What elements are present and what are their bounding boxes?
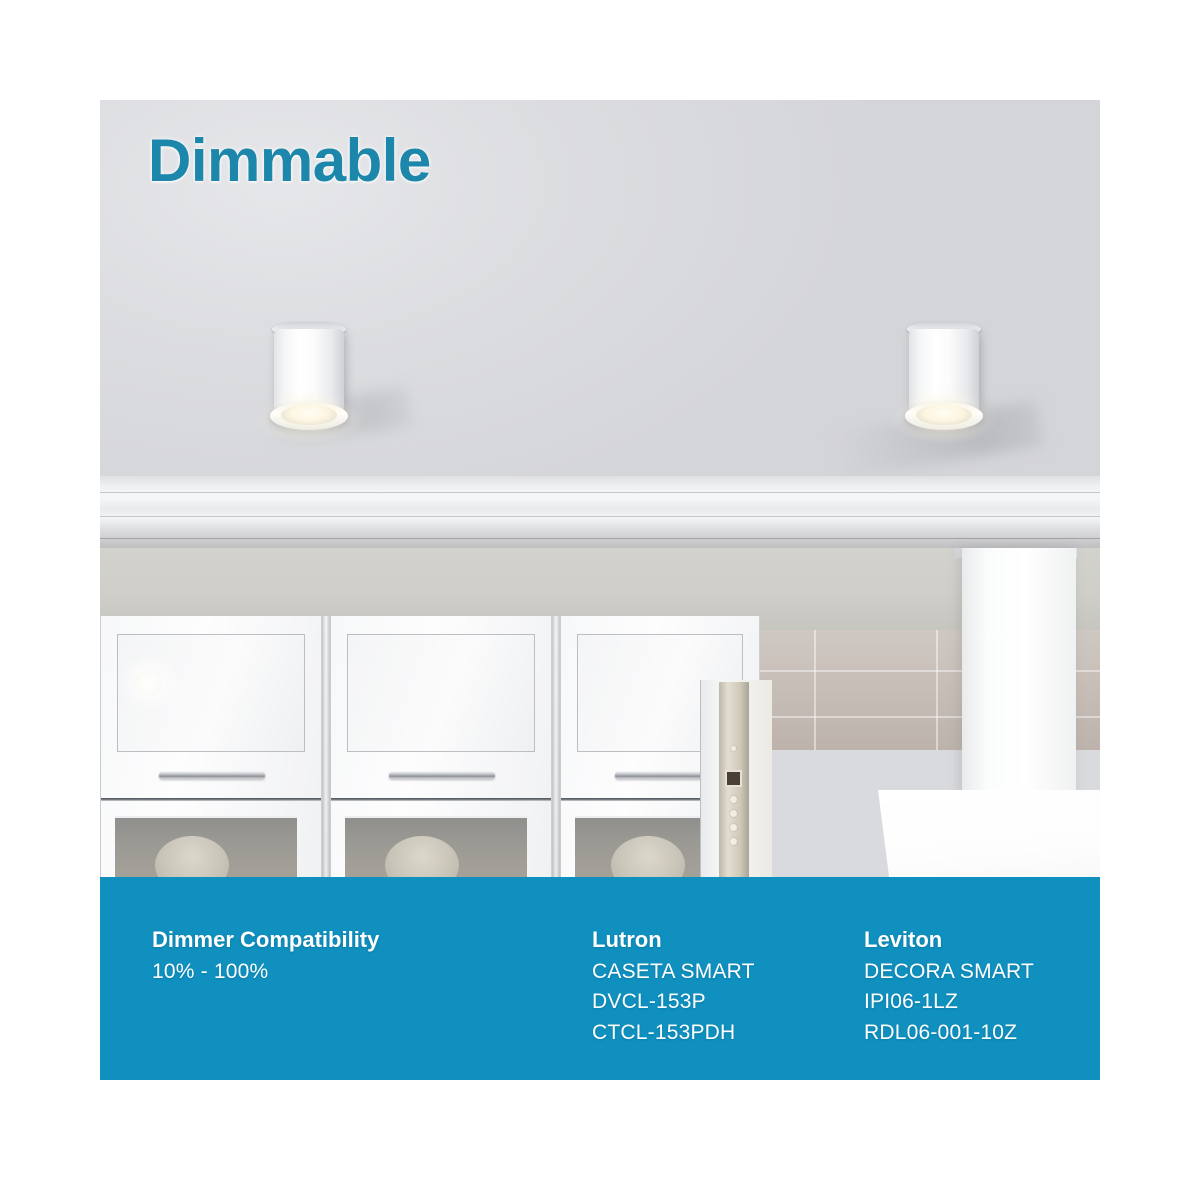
cabinet-glass-pane: [345, 816, 527, 880]
compatibility-heading: Dimmer Compatibility: [152, 925, 592, 955]
leviton-model: RDL06-001-10Z: [864, 1018, 1104, 1048]
cabinet-door: [100, 616, 322, 880]
banner-columns: Dimmer Compatibility 10% - 100% Lutron C…: [152, 925, 1104, 1048]
cabinet-panel: [347, 634, 535, 752]
appliance-button-icon: [730, 838, 737, 845]
cabinet-door: [330, 616, 552, 880]
cabinet-handle: [159, 772, 265, 779]
light-reflection: [135, 670, 163, 696]
downlight-fixture-right: [905, 322, 985, 437]
lutron-column: Lutron CASETA SMART DVCL-153P CTCL-153PD…: [592, 925, 864, 1048]
lutron-model: CTCL-153PDH: [592, 1018, 864, 1048]
page-title: Dimmable: [148, 131, 431, 191]
downlight-fixture-left: [270, 322, 350, 437]
appliance-control-strip: [719, 682, 749, 880]
tile-grout-line: [814, 630, 816, 750]
leviton-column: Leviton DECORA SMART IPI06-1LZ RDL06-001…: [864, 925, 1104, 1048]
leviton-model: IPI06-1LZ: [864, 987, 1104, 1017]
compatibility-range: 10% - 100%: [152, 957, 592, 987]
cabinet-glass-pane: [115, 816, 297, 880]
appliance-button-icon: [730, 824, 737, 831]
appliance-panel: [700, 680, 772, 880]
crown-molding: [100, 476, 1100, 548]
fixture-lens: [281, 405, 337, 425]
range-hood-chimney: [962, 548, 1076, 800]
molding-reveal: [100, 538, 1100, 539]
cabinet-rail: [331, 798, 551, 801]
lutron-heading: Lutron: [592, 925, 864, 955]
cabinet-seam: [322, 616, 330, 880]
molding-reveal: [100, 492, 1100, 493]
leviton-model: DECORA SMART: [864, 957, 1104, 987]
cabinet-handle: [389, 772, 495, 779]
appliance-button-icon: [730, 810, 737, 817]
tile-grout-line: [936, 630, 938, 750]
product-image-frame: Dimmable Dimmer Compatibility 10% - 100%…: [0, 0, 1200, 1200]
appliance-button-icon: [731, 746, 736, 751]
appliance-display-icon: [725, 770, 742, 787]
compatibility-column: Dimmer Compatibility 10% - 100%: [152, 925, 592, 987]
leviton-heading: Leviton: [864, 925, 1104, 955]
appliance-button-icon: [730, 796, 737, 803]
lutron-model: CASETA SMART: [592, 957, 864, 987]
upper-cabinet-run: [100, 616, 760, 880]
cabinet-seam: [552, 616, 560, 880]
cabinet-rail: [101, 798, 321, 801]
dimmer-compatibility-banner: Dimmer Compatibility 10% - 100% Lutron C…: [100, 877, 1100, 1080]
lutron-model: DVCL-153P: [592, 987, 864, 1017]
fixture-lens: [916, 405, 972, 425]
molding-reveal: [100, 516, 1100, 517]
